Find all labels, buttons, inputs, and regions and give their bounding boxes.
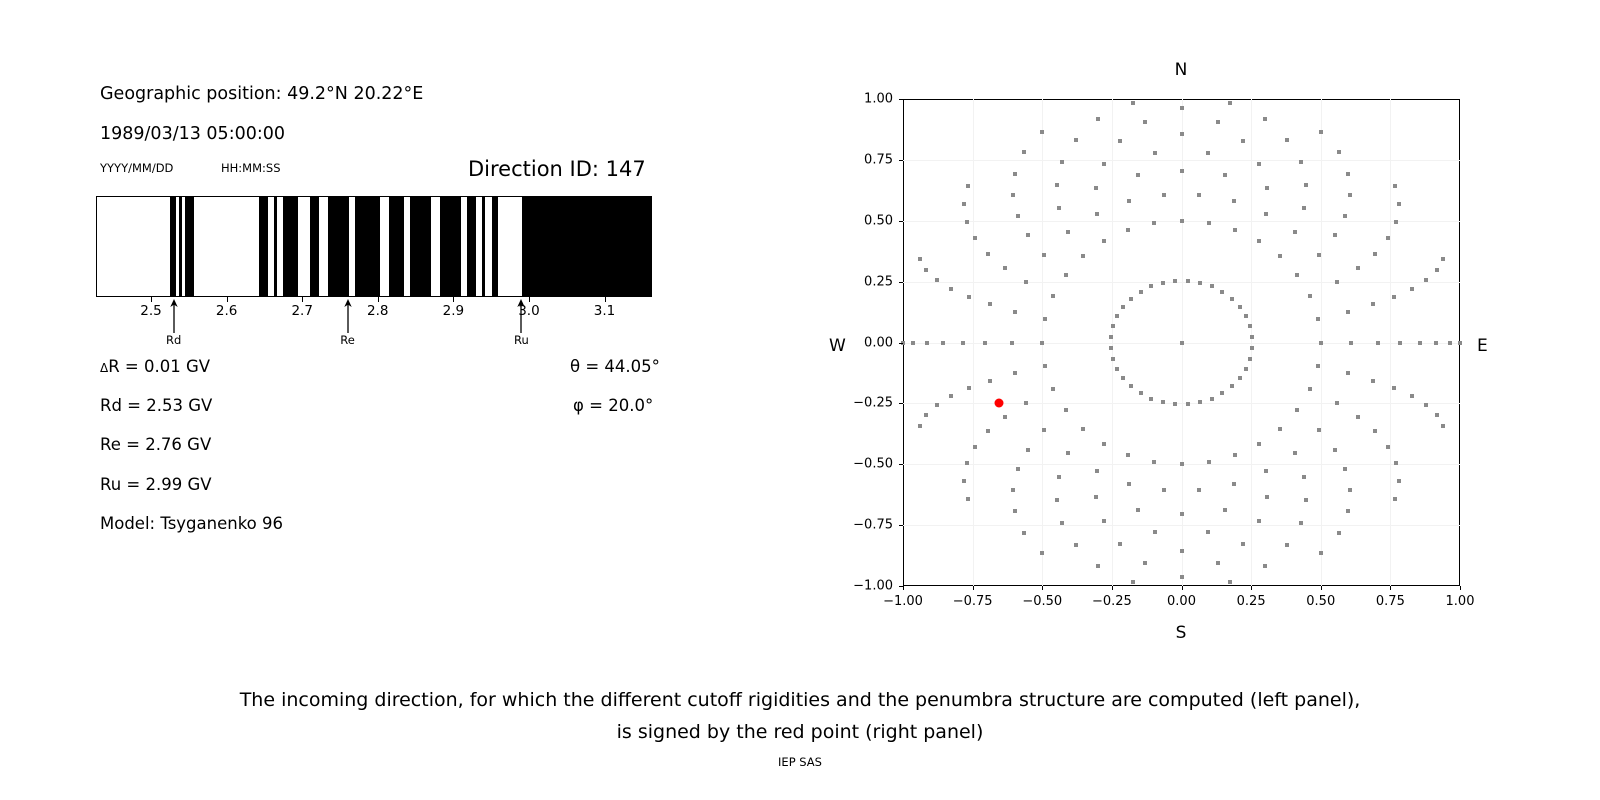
- direction-point: [1102, 239, 1106, 243]
- direction-point: [1173, 279, 1177, 283]
- direction-point: [1244, 367, 1248, 371]
- direction-point: [1356, 266, 1360, 270]
- direction-point: [1233, 228, 1237, 232]
- direction-point: [1257, 162, 1261, 166]
- direction-point: [1024, 280, 1028, 284]
- direction-point: [1418, 341, 1422, 345]
- y-axis-tick-label: 0.75: [841, 152, 893, 167]
- direction-point: [1299, 521, 1303, 525]
- direction-point: [1244, 314, 1248, 318]
- direction-point: [1206, 530, 1210, 534]
- direction-point: [1210, 397, 1214, 401]
- direction-point: [911, 341, 915, 345]
- direction-point: [1064, 408, 1068, 412]
- direction-point: [1302, 206, 1306, 210]
- direction-point: [935, 403, 939, 407]
- param-theta: θ = 44.05°: [570, 357, 660, 376]
- direction-point: [1095, 469, 1099, 473]
- direction-point: [1197, 193, 1201, 197]
- direction-point: [1102, 442, 1106, 446]
- direction-point: [1333, 233, 1337, 237]
- direction-point: [1410, 287, 1414, 291]
- direction-point: [1152, 460, 1156, 464]
- direction-point: [1441, 424, 1445, 428]
- direction-point: [1153, 530, 1157, 534]
- direction-point: [925, 341, 929, 345]
- direction-point: [1386, 236, 1390, 240]
- direction-point: [1043, 317, 1047, 321]
- gridline-horizontal: [903, 525, 1460, 526]
- direction-point: [1074, 138, 1078, 142]
- direction-point: [1257, 239, 1261, 243]
- direction-point: [967, 386, 971, 390]
- direction-point: [1264, 212, 1268, 216]
- penumbra-forbidden-band: [522, 197, 651, 296]
- penumbra-forbidden-band: [328, 197, 349, 296]
- direction-point: [1207, 460, 1211, 464]
- x-axis-tick-label: −0.75: [953, 594, 993, 609]
- direction-point: [1055, 183, 1059, 187]
- direction-point: [1013, 371, 1017, 375]
- direction-point: [1129, 384, 1133, 388]
- direction-point: [1319, 341, 1323, 345]
- rigidity-tick: [453, 297, 454, 302]
- y-axis-tick: [899, 160, 903, 161]
- penumbra-band-bar: [96, 196, 652, 297]
- rigidity-tick-label: 2.8: [367, 303, 388, 319]
- direction-point: [1220, 290, 1224, 294]
- direction-point: [924, 413, 928, 417]
- direction-point: [1248, 324, 1252, 328]
- direction-point: [1250, 335, 1254, 339]
- direction-point: [1109, 346, 1113, 350]
- direction-point: [1233, 453, 1237, 457]
- direction-point: [949, 287, 953, 291]
- direction-point: [941, 341, 945, 345]
- direction-point: [1139, 290, 1143, 294]
- compass-label-south: S: [1176, 623, 1187, 643]
- rigidity-marker-label-re: Re: [340, 333, 355, 347]
- direction-point: [1424, 278, 1428, 282]
- rigidity-marker-arrow-rd: [168, 299, 179, 333]
- penumbra-forbidden-band: [482, 197, 485, 296]
- rigidity-tick-label: 2.6: [216, 303, 237, 319]
- direction-point: [1293, 230, 1297, 234]
- direction-point: [1373, 429, 1377, 433]
- direction-point: [986, 252, 990, 256]
- direction-point: [1238, 376, 1242, 380]
- direction-point: [1293, 451, 1297, 455]
- direction-point: [1308, 387, 1312, 391]
- x-axis-tick: [1042, 586, 1043, 590]
- direction-point: [1094, 186, 1098, 190]
- direction-point: [1223, 508, 1227, 512]
- direction-point: [1206, 151, 1210, 155]
- x-axis-tick: [1112, 586, 1113, 590]
- y-axis-tick-label: 0.25: [841, 274, 893, 289]
- direction-point: [1317, 428, 1321, 432]
- direction-point: [1143, 120, 1147, 124]
- penumbra-forbidden-band: [310, 197, 319, 296]
- direction-point: [1302, 475, 1306, 479]
- rigidity-marker-label-ru: Ru: [514, 333, 529, 347]
- direction-point: [1115, 314, 1119, 318]
- direction-point: [1095, 212, 1099, 216]
- y-axis-tick-label: 0.00: [841, 335, 893, 350]
- direction-point: [1026, 448, 1030, 452]
- direction-point: [935, 278, 939, 282]
- direction-point: [1096, 117, 1100, 121]
- gridline-horizontal: [903, 403, 1460, 404]
- direction-point: [1376, 341, 1380, 345]
- direction-point: [1064, 273, 1068, 277]
- y-axis-tick: [899, 221, 903, 222]
- direction-point: [1186, 279, 1190, 283]
- direction-point: [1016, 467, 1020, 471]
- direction-point: [1118, 542, 1122, 546]
- direction-point: [1121, 305, 1125, 309]
- direction-point: [949, 394, 953, 398]
- direction-point: [1198, 400, 1202, 404]
- y-axis-tick: [899, 282, 903, 283]
- direction-point: [1126, 228, 1130, 232]
- figure-caption: The incoming direction, for which the di…: [0, 684, 1600, 748]
- penumbra-forbidden-band: [440, 197, 461, 296]
- direction-point: [1040, 341, 1044, 345]
- direction-point: [1435, 268, 1439, 272]
- direction-point: [1003, 415, 1007, 419]
- direction-point: [1394, 220, 1398, 224]
- rigidity-tick-label: 3.1: [594, 303, 615, 319]
- direction-point: [1343, 214, 1347, 218]
- direction-point: [1278, 427, 1282, 431]
- param-Rd: Rd = 2.53 GV: [100, 396, 212, 415]
- direction-point: [1424, 403, 1428, 407]
- direction-point: [1392, 386, 1396, 390]
- direction-point: [1304, 498, 1308, 502]
- direction-point: [1257, 519, 1261, 523]
- rigidity-tick-label: 2.7: [291, 303, 312, 319]
- direction-point: [1441, 257, 1445, 261]
- direction-point: [1410, 394, 1414, 398]
- direction-point: [1232, 199, 1236, 203]
- direction-point: [1264, 469, 1268, 473]
- direction-point: [1060, 160, 1064, 164]
- x-axis-tick: [1251, 586, 1252, 590]
- direction-point: [1118, 139, 1122, 143]
- direction-point: [1265, 186, 1269, 190]
- direction-point: [1263, 117, 1267, 121]
- rigidity-marker-label-rd: Rd: [166, 333, 181, 347]
- direction-point: [1371, 302, 1375, 306]
- direction-point: [966, 497, 970, 501]
- direction-point: [1248, 357, 1252, 361]
- direction-point: [1136, 173, 1140, 177]
- direction-point: [1102, 519, 1106, 523]
- y-axis-tick-label: −0.75: [841, 518, 893, 533]
- direction-point: [1317, 253, 1321, 257]
- direction-point: [1346, 509, 1350, 513]
- time-format-hint: HH:MM:SS: [221, 161, 281, 175]
- caption-line-2: is signed by the red point (right panel): [0, 716, 1600, 748]
- direction-point: [1051, 294, 1055, 298]
- direction-point: [1060, 521, 1064, 525]
- direction-point: [1066, 451, 1070, 455]
- direction-point: [1435, 413, 1439, 417]
- direction-point: [1042, 253, 1046, 257]
- direction-point: [1285, 543, 1289, 547]
- direction-point: [1074, 543, 1078, 547]
- direction-point: [1115, 367, 1119, 371]
- direction-point: [1356, 415, 1360, 419]
- direction-point: [1373, 252, 1377, 256]
- direction-point: [1348, 488, 1352, 492]
- direction-point: [1111, 324, 1115, 328]
- direction-point: [1335, 401, 1339, 405]
- direction-point: [973, 445, 977, 449]
- direction-point: [1096, 564, 1100, 568]
- direction-point: [1127, 199, 1131, 203]
- direction-point: [1220, 391, 1224, 395]
- direction-point: [1397, 202, 1401, 206]
- direction-point: [1161, 400, 1165, 404]
- x-axis-tick: [973, 586, 974, 590]
- y-axis-tick-label: 0.50: [841, 213, 893, 228]
- y-axis-tick-label: 1.00: [841, 92, 893, 107]
- direction-point: [1043, 364, 1047, 368]
- x-axis-tick: [1182, 586, 1183, 590]
- direction-point: [1337, 150, 1341, 154]
- x-axis-tick-label: 0.25: [1237, 594, 1266, 609]
- direction-point: [988, 302, 992, 306]
- direction-point: [1250, 346, 1254, 350]
- direction-point: [1003, 266, 1007, 270]
- direction-point: [1149, 397, 1153, 401]
- direction-point: [1051, 387, 1055, 391]
- y-axis-tick-label: −1.00: [841, 579, 893, 594]
- direction-point: [1316, 364, 1320, 368]
- param-delta-R-text: R = 0.01 GV: [108, 357, 210, 376]
- x-axis-tick-label: −0.25: [1092, 594, 1132, 609]
- rigidity-tick-label: 2.9: [443, 303, 464, 319]
- direction-point: [1228, 580, 1232, 584]
- direction-point: [1180, 219, 1184, 223]
- direction-point: [1295, 408, 1299, 412]
- direction-point: [1207, 221, 1211, 225]
- direction-point: [1392, 295, 1396, 299]
- direction-point: [1371, 379, 1375, 383]
- param-Ru: Ru = 2.99 GV: [100, 475, 212, 494]
- direction-point: [1448, 341, 1452, 345]
- gridline-horizontal: [903, 160, 1460, 161]
- penumbra-chart: [96, 196, 652, 297]
- direction-point: [1127, 482, 1131, 486]
- geographic-position-label: Geographic position: 49.2°N 20.22°E: [100, 84, 423, 104]
- direction-point: [924, 268, 928, 272]
- direction-point: [1398, 341, 1402, 345]
- direction-point: [1346, 310, 1350, 314]
- direction-point: [1102, 162, 1106, 166]
- direction-point: [1022, 531, 1026, 535]
- direction-point: [1198, 281, 1202, 285]
- rigidity-axis: 2.52.62.72.82.93.03.1RdReRu: [96, 297, 652, 355]
- delta-symbol: Δ: [100, 361, 108, 375]
- direction-point: [1180, 132, 1184, 136]
- direction-point: [1131, 580, 1135, 584]
- direction-point: [1131, 101, 1135, 105]
- direction-point: [1180, 462, 1184, 466]
- param-Re: Re = 2.76 GV: [100, 435, 211, 454]
- direction-point: [1180, 169, 1184, 173]
- direction-point: [965, 461, 969, 465]
- direction-point: [1393, 497, 1397, 501]
- direction-point: [1152, 221, 1156, 225]
- direction-point: [1013, 172, 1017, 176]
- x-axis-tick-label: 0.50: [1306, 594, 1335, 609]
- compass-label-north: N: [1175, 60, 1188, 80]
- y-axis-tick: [899, 343, 903, 344]
- penumbra-forbidden-band: [492, 197, 498, 296]
- direction-point: [1349, 341, 1353, 345]
- direction-point: [1319, 130, 1323, 134]
- rigidity-marker-arrow-re: [342, 299, 353, 333]
- direction-point: [1057, 206, 1061, 210]
- direction-point: [983, 341, 987, 345]
- direction-point: [1143, 561, 1147, 565]
- direction-point: [1346, 172, 1350, 176]
- direction-point: [918, 257, 922, 261]
- y-axis-tick-label: −0.50: [841, 457, 893, 472]
- direction-point: [1040, 130, 1044, 134]
- y-axis-tick: [899, 525, 903, 526]
- rigidity-tick: [378, 297, 379, 302]
- y-axis-tick: [899, 403, 903, 404]
- direction-point: [1263, 564, 1267, 568]
- penumbra-forbidden-band: [467, 197, 476, 296]
- direction-point: [1393, 184, 1397, 188]
- direction-point: [1278, 254, 1282, 258]
- direction-point: [1257, 442, 1261, 446]
- direction-point: [988, 379, 992, 383]
- direction-point: [1111, 357, 1115, 361]
- penumbra-forbidden-band: [185, 197, 194, 296]
- direction-point: [1232, 482, 1236, 486]
- datetime-label: 1989/03/13 05:00:00: [100, 124, 285, 144]
- x-axis-tick-label: 0.75: [1376, 594, 1405, 609]
- selected-direction-point[interactable]: [995, 399, 1004, 408]
- direction-point: [1081, 427, 1085, 431]
- direction-point: [1180, 106, 1184, 110]
- direction-point: [1265, 495, 1269, 499]
- direction-point: [1129, 297, 1133, 301]
- direction-point: [1319, 551, 1323, 555]
- direction-point: [1197, 488, 1201, 492]
- direction-point: [1081, 254, 1085, 258]
- direction-point: [1299, 160, 1303, 164]
- direction-point: [1348, 193, 1352, 197]
- direction-point: [1011, 193, 1015, 197]
- direction-point: [1016, 214, 1020, 218]
- x-axis-tick-label: 0.00: [1167, 594, 1196, 609]
- penumbra-forbidden-band: [355, 197, 379, 296]
- direction-point: [1180, 575, 1184, 579]
- direction-point: [1022, 150, 1026, 154]
- direction-point: [1136, 508, 1140, 512]
- direction-point: [1241, 542, 1245, 546]
- direction-point: [962, 479, 966, 483]
- rigidity-tick: [605, 297, 606, 302]
- direction-point: [1126, 453, 1130, 457]
- penumbra-forbidden-band: [410, 197, 431, 296]
- direction-point: [961, 341, 965, 345]
- direction-point: [1011, 488, 1015, 492]
- direction-point: [1121, 376, 1125, 380]
- direction-point: [1109, 335, 1113, 339]
- direction-point: [1042, 428, 1046, 432]
- penumbra-forbidden-band: [389, 197, 404, 296]
- y-axis-tick-label: −0.25: [841, 396, 893, 411]
- caption-line-1: The incoming direction, for which the di…: [0, 684, 1600, 716]
- direction-point: [918, 424, 922, 428]
- param-phi: φ = 20.0°: [573, 396, 653, 415]
- footer-credit: IEP SAS: [0, 755, 1600, 769]
- direction-point: [986, 429, 990, 433]
- direction-point: [1308, 294, 1312, 298]
- rigidity-tick-label: 2.5: [140, 303, 161, 319]
- y-axis-tick: [899, 99, 903, 100]
- direction-point: [1180, 341, 1184, 345]
- direction-point: [1230, 297, 1234, 301]
- x-axis-tick: [903, 586, 904, 590]
- x-axis-tick-label: −0.50: [1022, 594, 1062, 609]
- rigidity-tick: [227, 297, 228, 302]
- direction-point: [966, 184, 970, 188]
- direction-point: [1013, 509, 1017, 513]
- direction-point: [1216, 561, 1220, 565]
- direction-point: [1285, 138, 1289, 142]
- penumbra-forbidden-band: [259, 197, 268, 296]
- direction-point: [1394, 461, 1398, 465]
- direction-point: [1013, 310, 1017, 314]
- direction-point: [1139, 391, 1143, 395]
- param-model: Model: Tsyganenko 96: [100, 514, 283, 533]
- direction-point: [1162, 193, 1166, 197]
- direction-point: [1026, 233, 1030, 237]
- direction-point: [1337, 531, 1341, 535]
- direction-point: [1055, 498, 1059, 502]
- gridline-horizontal: [903, 282, 1460, 283]
- direction-point: [1241, 139, 1245, 143]
- direction-point: [1230, 384, 1234, 388]
- direction-point: [1173, 402, 1177, 406]
- direction-point: [1343, 467, 1347, 471]
- direction-point: [1333, 448, 1337, 452]
- direction-point: [1186, 402, 1190, 406]
- rigidity-tick: [529, 297, 530, 302]
- x-axis-tick: [1460, 586, 1461, 590]
- direction-point: [1228, 101, 1232, 105]
- direction-point: [1024, 401, 1028, 405]
- direction-point: [973, 236, 977, 240]
- direction-point: [1238, 305, 1242, 309]
- x-axis-tick-label: 1.00: [1446, 594, 1475, 609]
- x-axis-tick: [1321, 586, 1322, 590]
- compass-label-east: E: [1477, 336, 1488, 356]
- direction-point: [1180, 512, 1184, 516]
- direction-point: [1161, 281, 1165, 285]
- direction-scatter-chart: [903, 99, 1460, 586]
- y-axis-tick: [899, 464, 903, 465]
